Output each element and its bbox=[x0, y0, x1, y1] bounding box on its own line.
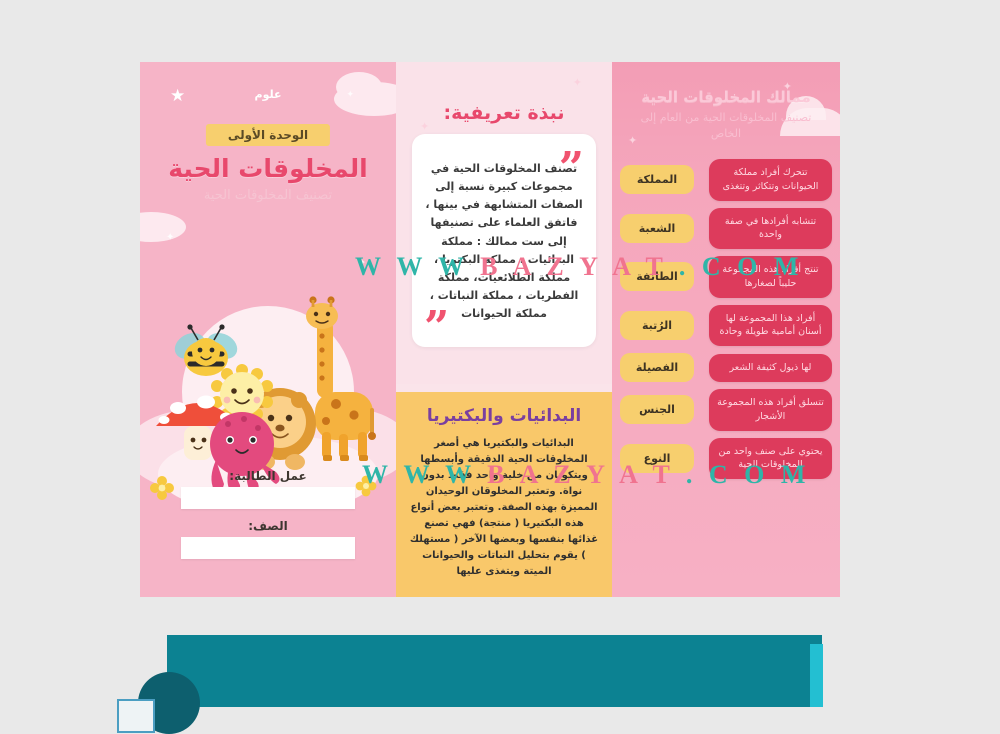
taxonomy-description: تتحرك أفراد مملكة الحيوانات وتتكاثر وتتغ… bbox=[709, 159, 832, 201]
intro-title: نبذة تعريفية: bbox=[396, 102, 612, 124]
blue-square-decoration bbox=[117, 699, 155, 733]
teal-accent-strip bbox=[810, 644, 823, 707]
cover-main-title: المخلوقات الحية bbox=[140, 154, 396, 183]
left-panel-header: ممالك المخلوقات الحية تصنيف المخلوقات ال… bbox=[612, 88, 840, 142]
taxonomy-rank-tag[interactable]: الجنس bbox=[620, 395, 694, 424]
bacteria-section: البدائيات والبكتيريا البدائيات والبكتيري… bbox=[396, 392, 612, 597]
star-icon: ✦ bbox=[166, 232, 174, 243]
unit-badge: الوحدة الأولى bbox=[206, 124, 330, 146]
sparkle-icon: ✦ bbox=[573, 76, 582, 89]
class-label: الصف: bbox=[162, 519, 374, 533]
taxonomy-rank-tag[interactable]: الطائفة bbox=[620, 262, 694, 291]
student-name-label: عمل الطالبة: bbox=[162, 469, 374, 483]
brochure: ✦ ✦ ممالك المخلوقات الحية تصنيف المخلوقا… bbox=[140, 62, 840, 597]
taxonomy-description: تتشابه أفرادها في صفة واحدة bbox=[709, 208, 832, 250]
quote-close-icon: ” bbox=[424, 315, 449, 341]
taxonomy-description: تتسلق أفراد هذه المجموعة الأشجار bbox=[709, 389, 832, 431]
intro-quote-card: ” تصنف المخلوقات الحية في مجموعات كبيرة … bbox=[412, 134, 596, 347]
taxonomy-row: لها ذيول كثيفة الشعرالفصيلة bbox=[620, 353, 832, 382]
taxonomy-rank-tag[interactable]: النوع bbox=[620, 444, 694, 473]
student-name-input[interactable] bbox=[181, 487, 355, 509]
cover-form-fields: عمل الطالبة: الصف: bbox=[162, 469, 374, 569]
taxonomy-description: يحتوي على صنف واحد من المخلوقات الحية bbox=[709, 438, 832, 480]
left-panel-subtitle: تصنيف المخلوقات الحية من العام إلى الخاص bbox=[612, 110, 840, 142]
taxonomy-description: أفراد هذا المجموعة لها أسنان أمامية طويل… bbox=[709, 305, 832, 347]
bacteria-body-text: البدائيات والبكتيريا هي أصغر المخلوقات ا… bbox=[408, 436, 600, 580]
bacteria-title: البدائيات والبكتيريا bbox=[408, 406, 600, 426]
taxonomy-row: تنتج أفراد هذه المجموعة حليباً لصغارهاال… bbox=[620, 256, 832, 298]
panel-kingdoms-list: ✦ ✦ ممالك المخلوقات الحية تصنيف المخلوقا… bbox=[612, 62, 840, 597]
taxonomy-rank-tag[interactable]: الشعبة bbox=[620, 214, 694, 243]
taxonomy-row: تتشابه أفرادها في صفة واحدةالشعبة bbox=[620, 208, 832, 250]
taxonomy-row: تتسلق أفراد هذه المجموعة الأشجارالجنس bbox=[620, 389, 832, 431]
taxonomy-row: تتحرك أفراد مملكة الحيوانات وتتكاثر وتتغ… bbox=[620, 159, 832, 201]
taxonomy-rank-list: تتحرك أفراد مملكة الحيوانات وتتكاثر وتتغ… bbox=[620, 159, 832, 486]
taxonomy-row: يحتوي على صنف واحد من المخلوقات الحيةالن… bbox=[620, 438, 832, 480]
taxonomy-rank-tag[interactable]: الفصيلة bbox=[620, 353, 694, 382]
class-input[interactable] bbox=[181, 537, 355, 559]
taxonomy-rank-tag[interactable]: المملكة bbox=[620, 165, 694, 194]
left-panel-title: ممالك المخلوقات الحية bbox=[612, 88, 840, 106]
taxonomy-row: أفراد هذا المجموعة لها أسنان أمامية طويل… bbox=[620, 305, 832, 347]
star-icon: ✦ bbox=[359, 258, 366, 267]
cover-subtitle: تصنيف المخلوقات الحية bbox=[140, 188, 396, 203]
taxonomy-description: تنتج أفراد هذه المجموعة حليباً لصغارها bbox=[709, 256, 832, 298]
panel-introduction: ✦ ✦ نبذة تعريفية: ” تصنف المخلوقات الحية… bbox=[396, 62, 612, 597]
panel-cover: ★ ✦ ✦ ✦ علوم الوحدة الأولى المخلوقات الح… bbox=[140, 62, 396, 597]
taxonomy-rank-tag[interactable]: الرُتبة bbox=[620, 311, 694, 340]
subject-label: علوم bbox=[140, 88, 396, 101]
quote-open-icon: ” bbox=[559, 156, 584, 182]
bottom-teal-bar bbox=[167, 635, 822, 707]
taxonomy-description: لها ذيول كثيفة الشعر bbox=[709, 354, 832, 382]
